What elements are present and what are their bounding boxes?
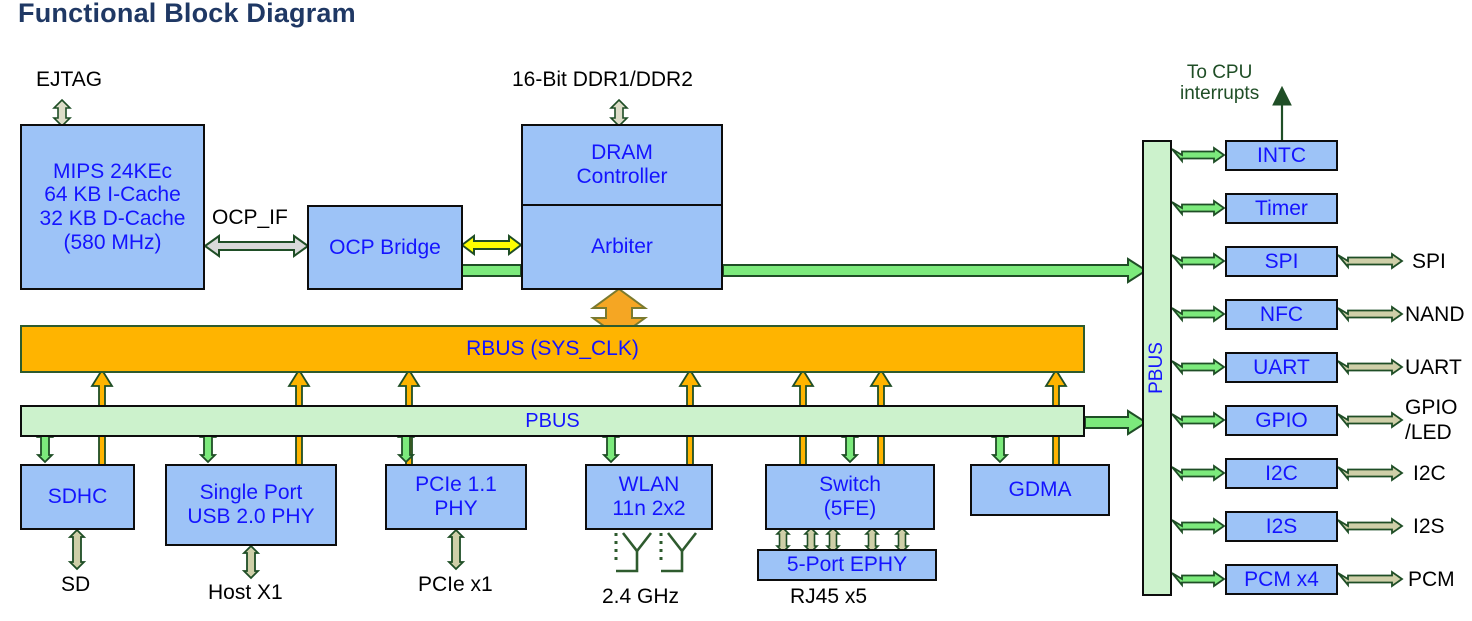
page-title: Functional Block Diagram: [18, 0, 356, 29]
ocp-arbiter-yellow-connector: [462, 236, 521, 254]
ocp-arbiter-green-bar: [462, 265, 521, 276]
usb-phy-block[interactable]: Single Port USB 2.0 PHY: [165, 464, 337, 546]
pcm-block[interactable]: PCM x4: [1225, 564, 1338, 595]
i2s-io-label: I2S: [1413, 515, 1445, 539]
rbus-bar[interactable]: RBUS (SYS_CLK): [20, 325, 1085, 373]
i2s-block[interactable]: I2S: [1225, 511, 1338, 542]
pcie-phy-block[interactable]: PCIe 1.1 PHY: [385, 464, 527, 530]
wlan-block[interactable]: WLAN 11n 2x2: [585, 464, 713, 530]
ddr-connector: [611, 100, 627, 126]
pcie-io-label: PCIe x1: [418, 573, 493, 597]
intc-block[interactable]: INTC: [1225, 140, 1338, 171]
gpio-io-label: GPIO /LED: [1405, 396, 1458, 446]
host-io-label: Host X1: [208, 581, 283, 605]
ddr-label: 16-Bit DDR1/DDR2: [512, 68, 693, 92]
wlan-antennas: [616, 533, 696, 571]
arbiter-to-pbus-arrow: [723, 259, 1146, 282]
ocp-bridge-block[interactable]: OCP Bridge: [307, 205, 463, 290]
pcm-io-label: PCM: [1408, 568, 1455, 592]
spi-io-label: SPI: [1412, 250, 1446, 274]
sdhc-block[interactable]: SDHC: [20, 464, 135, 530]
pbus-column[interactable]: PBUS: [1142, 140, 1172, 596]
peripheral-bus-connectors: [1172, 148, 1224, 586]
nand-io-label: NAND: [1405, 303, 1465, 327]
pbus-bar[interactable]: PBUS: [20, 405, 1085, 437]
switch-block[interactable]: Switch (5FE): [765, 464, 935, 530]
peripheral-io-connectors: [1338, 254, 1402, 586]
uart-block[interactable]: UART: [1225, 352, 1338, 383]
mips-cpu-block[interactable]: MIPS 24KEc 64 KB I-Cache 32 KB D-Cache (…: [20, 124, 205, 290]
switch-io-label: RJ45 x5: [790, 585, 867, 609]
pbus-bar-to-column-arrow: [1085, 411, 1146, 434]
to-cpu-interrupts-label: To CPU interrupts: [1180, 62, 1259, 105]
uart-io-label: UART: [1405, 356, 1462, 380]
gdma-block[interactable]: GDMA: [970, 464, 1110, 516]
gpio-block[interactable]: GPIO: [1225, 405, 1338, 436]
pbus-column-label: PBUS: [1146, 342, 1168, 394]
dram-controller-block[interactable]: DRAM Controller: [521, 124, 723, 205]
i2c-block[interactable]: I2C: [1225, 458, 1338, 489]
ejtag-label: EJTAG: [36, 68, 102, 92]
i2c-io-label: I2C: [1413, 462, 1446, 486]
timer-block[interactable]: Timer: [1225, 193, 1338, 224]
spi-block[interactable]: SPI: [1225, 246, 1338, 277]
nfc-block[interactable]: NFC: [1225, 299, 1338, 330]
sd-io-label: SD: [61, 573, 90, 597]
ocp-if-label: OCP_IF: [212, 206, 288, 230]
functional-block-diagram: Functional Block Diagram: [0, 0, 1472, 621]
ejtag-connector: [54, 100, 70, 126]
ephy-block[interactable]: 5-Port EPHY: [757, 549, 937, 581]
arbiter-block[interactable]: Arbiter: [521, 205, 723, 290]
wlan-io-label: 2.4 GHz: [602, 585, 679, 609]
ocp-if-connector: [205, 236, 308, 256]
